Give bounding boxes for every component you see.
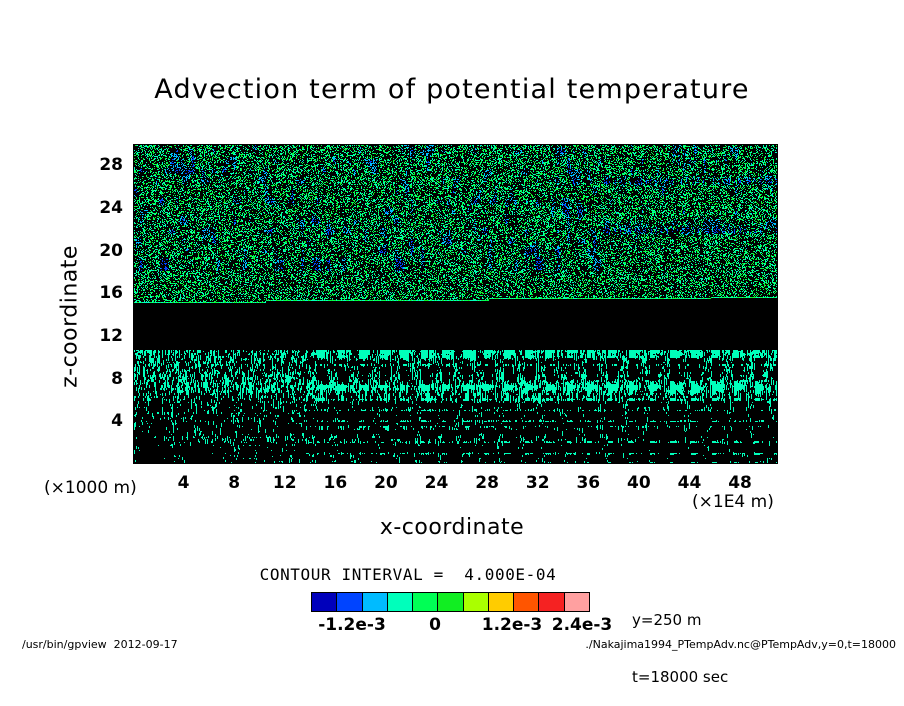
y-tick-label: 24 xyxy=(71,198,123,218)
x-tick-label: 4 xyxy=(178,473,190,493)
x-tick-label: 40 xyxy=(627,473,651,493)
annotation-y-value: y=250 m xyxy=(632,611,728,630)
contour-field xyxy=(134,145,778,464)
contour-interval-label: CONTOUR INTERVAL = 4.000E-04 xyxy=(0,565,860,584)
colorbar-swatch xyxy=(337,593,362,611)
colorbar-swatch xyxy=(464,593,489,611)
colorbar-tick-label: 0 xyxy=(429,615,441,635)
x-tick-label: 36 xyxy=(576,473,600,493)
page-title: Advection term of potential temperature xyxy=(0,74,904,105)
x-tick-label: 12 xyxy=(273,473,297,493)
colorbar[interactable] xyxy=(311,592,590,612)
x-tick-label: 16 xyxy=(324,473,348,493)
colorbar-swatch xyxy=(438,593,463,611)
footer-datafile-info: ./Nakajima1994_PTempAdv.nc@PTempAdv,y=0,… xyxy=(585,638,896,651)
y-axis-title: z-coordinate xyxy=(58,217,83,417)
colorbar-tick-labels: -1.2e-301.2e-32.4e-3 xyxy=(290,615,620,637)
colorbar-swatch xyxy=(514,593,539,611)
y-tick-label: 28 xyxy=(71,155,123,175)
footer-command-info: /usr/bin/gpview 2012-09-17 xyxy=(22,638,178,651)
y-axis-unit-label: (×1000 m) xyxy=(44,478,137,498)
x-tick-label: 20 xyxy=(374,473,398,493)
contour-plot-area[interactable] xyxy=(133,144,778,464)
x-axis-title: x-coordinate xyxy=(0,515,904,540)
colorbar-swatch xyxy=(489,593,514,611)
x-tick-label: 48 xyxy=(728,473,752,493)
colorbar-swatch xyxy=(565,593,589,611)
colorbar-swatch xyxy=(363,593,388,611)
colorbar-tick-label: -1.2e-3 xyxy=(318,615,386,635)
x-tick-label: 8 xyxy=(228,473,240,493)
x-tick-label: 24 xyxy=(425,473,449,493)
colorbar-swatch xyxy=(413,593,438,611)
colorbar-tick-label: 2.4e-3 xyxy=(552,615,613,635)
colorbar-swatch xyxy=(312,593,337,611)
colorbar-tick-label: 1.2e-3 xyxy=(482,615,543,635)
x-tick-label: 32 xyxy=(526,473,550,493)
colorbar-swatch xyxy=(388,593,413,611)
annotation-t-value: t=18000 sec xyxy=(632,668,728,687)
x-tick-label: 28 xyxy=(475,473,499,493)
x-tick-label: 44 xyxy=(678,473,702,493)
colorbar-swatch xyxy=(539,593,564,611)
x-axis-unit-label: (×1E4 m) xyxy=(692,492,774,512)
